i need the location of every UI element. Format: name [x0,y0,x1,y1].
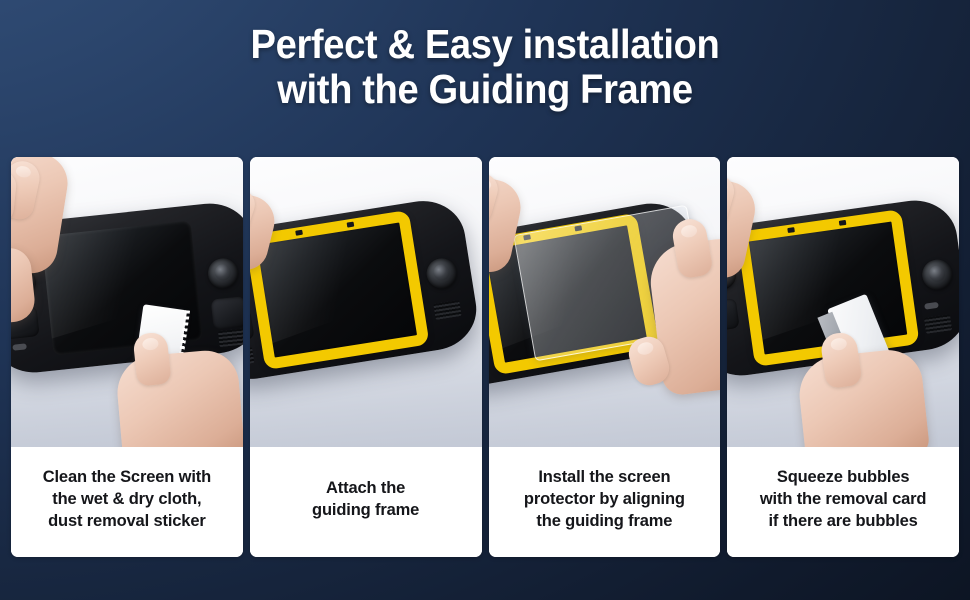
caption-line-3: the guiding frame [536,512,672,530]
right-hand [796,347,931,447]
caption-line-1: Clean the Screen with [43,468,211,486]
caption-line-3: dust removal sticker [48,512,206,530]
step-caption-1: Clean the Screen with the wet & dry clot… [11,447,243,557]
thumbnail [830,337,848,351]
caption-line-2: guiding frame [312,501,419,519]
caption-text: Clean the Screen with the wet & dry clot… [43,466,211,532]
step-photo-3 [489,157,721,447]
fingernail [15,165,32,179]
caption-text: Install the screen protector by aligning… [524,466,685,532]
caption-line-2: protector by aligning [524,490,685,508]
installation-steps: Clean the Screen with the wet & dry clot… [11,157,959,557]
step-photo-2 [250,157,482,447]
caption-line-1: Squeeze bubbles [777,468,910,486]
right-trackpad [211,296,243,329]
step-card-2: Attach the guiding frame [250,157,482,557]
step-card-3: Install the screen protector by aligning… [489,157,721,557]
step-caption-2: Attach the guiding frame [250,447,482,557]
step-photo-4 [727,157,959,447]
fingernail [489,177,492,192]
fingernail [680,224,698,239]
step-caption-4: Squeeze bubbles with the removal card if… [727,447,959,557]
right-hand [114,348,242,447]
caption-text: Squeeze bubbles with the removal card if… [760,466,926,532]
thumbnail [142,337,159,351]
yellow-guiding-frame [250,210,430,370]
caption-text: Attach the guiding frame [312,477,419,521]
title-line-2: with the Guiding Frame [34,67,936,112]
step-card-1: Clean the Screen with the wet & dry clot… [11,157,243,557]
caption-line-3: if there are bubbles [769,512,918,530]
promo-banner: Perfect & Easy installation with the Gui… [0,0,970,600]
speaker-grille [218,328,243,347]
title-line-1: Perfect & Easy installation [34,22,936,67]
step-caption-3: Install the screen protector by aligning… [489,447,721,557]
step-card-4: Squeeze bubbles with the removal card if… [727,157,959,557]
thumbnail [636,341,655,357]
fingernail [727,179,729,194]
caption-line-2: with the removal card [760,490,926,508]
caption-line-1: Install the screen [538,468,670,486]
caption-line-1: Attach the [326,479,405,497]
step-photo-1 [11,157,243,447]
caption-line-2: the wet & dry cloth, [52,490,201,508]
page-title: Perfect & Easy installation with the Gui… [0,22,970,112]
